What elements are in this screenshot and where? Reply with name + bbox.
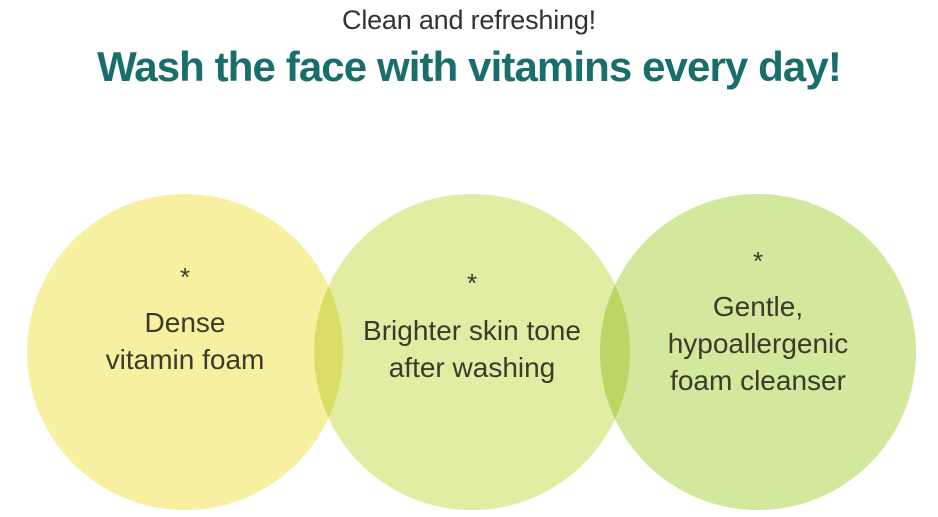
venn-label-line: after washing — [363, 349, 581, 386]
asterisk-icon: * — [180, 266, 190, 288]
venn-label-line: vitamin foam — [106, 341, 265, 378]
kicker-text: Clean and refreshing! — [0, 0, 938, 37]
venn-label-body: Gentle, hypoallergenic foam cleanser — [668, 288, 849, 399]
venn-label-line: Brighter skin tone — [363, 312, 581, 349]
venn-label-body: Brighter skin tone after washing — [363, 312, 581, 386]
promo-banner: Clean and refreshing! Wash the face with… — [0, 0, 938, 517]
venn-diagram: * Dense vitamin foam * Brighter skin ton… — [0, 194, 938, 517]
venn-label-body: Dense vitamin foam — [106, 304, 265, 378]
venn-label-dense-vitamin-foam: * Dense vitamin foam — [27, 194, 343, 510]
venn-label-line: Dense — [106, 304, 265, 341]
page-title: Wash the face with vitamins every day! — [0, 37, 938, 93]
venn-label-line: hypoallergenic — [668, 325, 849, 362]
venn-labels: * Dense vitamin foam * Brighter skin ton… — [0, 194, 938, 517]
venn-label-gentle-hypoallergenic: * Gentle, hypoallergenic foam cleanser — [600, 194, 916, 510]
asterisk-icon: * — [467, 272, 477, 294]
venn-label-line: foam cleanser — [668, 362, 849, 399]
asterisk-icon: * — [753, 250, 763, 272]
header-block: Clean and refreshing! Wash the face with… — [0, 0, 938, 93]
venn-label-line: Gentle, — [668, 288, 849, 325]
venn-label-brighter-skin-tone: * Brighter skin tone after washing — [314, 194, 630, 510]
